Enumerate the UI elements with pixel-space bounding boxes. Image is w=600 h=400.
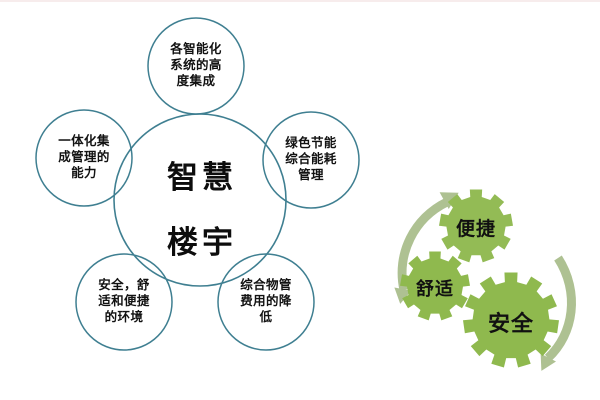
gear-shape-comfortable <box>400 251 470 320</box>
gear-cluster-graphic <box>0 0 600 400</box>
gear-shape-convenient <box>439 190 513 263</box>
gear-shape-safety <box>463 272 559 367</box>
diagram-canvas: 智慧 楼宇 各智能化 系统的高 度集成 一体化集 成管理的 能力 绿色节能 综合… <box>0 0 600 400</box>
